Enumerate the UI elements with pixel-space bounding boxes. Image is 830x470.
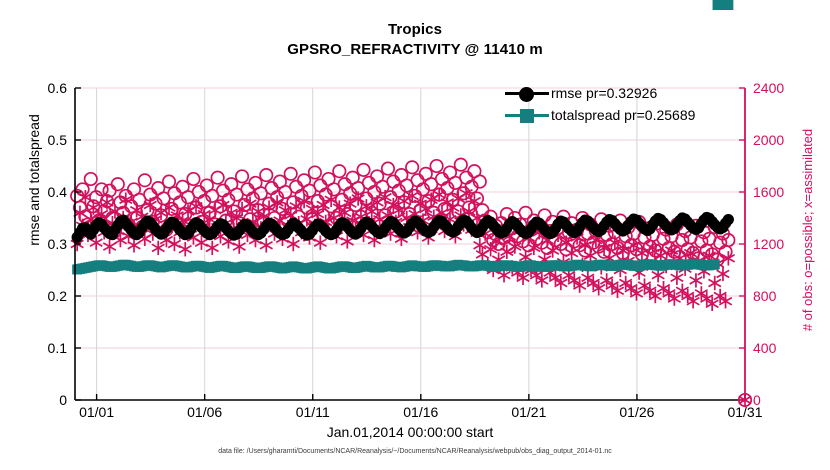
- y-tick-right-3: 1200: [753, 236, 799, 252]
- y-tick-right-1: 400: [753, 340, 799, 356]
- legend-swatch-rmse: [505, 84, 549, 102]
- x-tick-0: 01/01: [62, 404, 132, 420]
- legend-label-rmse: rmse pr=0.32926: [549, 85, 657, 101]
- legend-swatch-totalspread: [505, 106, 549, 124]
- legend-item-totalspread[interactable]: totalspread pr=0.25689: [505, 104, 695, 126]
- y-tick-left-4: 0.4: [23, 184, 67, 200]
- x-tick-5: 01/26: [602, 404, 672, 420]
- y-tick-left-3: 0.3: [23, 236, 67, 252]
- x-tick-3: 01/16: [386, 404, 456, 420]
- y-tick-right-2: 800: [753, 288, 799, 304]
- y-tick-left-6: 0.6: [23, 80, 67, 96]
- x-tick-6: 01/31: [710, 404, 780, 420]
- x-tick-1: 01/06: [170, 404, 240, 420]
- y-tick-right-4: 1600: [753, 184, 799, 200]
- y-tick-left-5: 0.5: [23, 132, 67, 148]
- chart-legend: rmse pr=0.32926 totalspread pr=0.25689: [505, 82, 695, 126]
- x-tick-2: 01/11: [278, 404, 348, 420]
- y-tick-left-0: 0: [23, 392, 67, 408]
- y-tick-left-2: 0.2: [23, 288, 67, 304]
- plot-canvas: [0, 0, 830, 470]
- obs-diag-figure: Tropics GPSRO_REFRACTIVITY @ 11410 m rms…: [0, 0, 830, 470]
- legend-item-rmse[interactable]: rmse pr=0.32926: [505, 82, 695, 104]
- x-tick-4: 01/21: [494, 404, 564, 420]
- y-tick-right-6: 2400: [753, 80, 799, 96]
- y-tick-right-5: 2000: [753, 132, 799, 148]
- legend-label-totalspread: totalspread pr=0.25689: [549, 107, 695, 123]
- y-tick-left-1: 0.1: [23, 340, 67, 356]
